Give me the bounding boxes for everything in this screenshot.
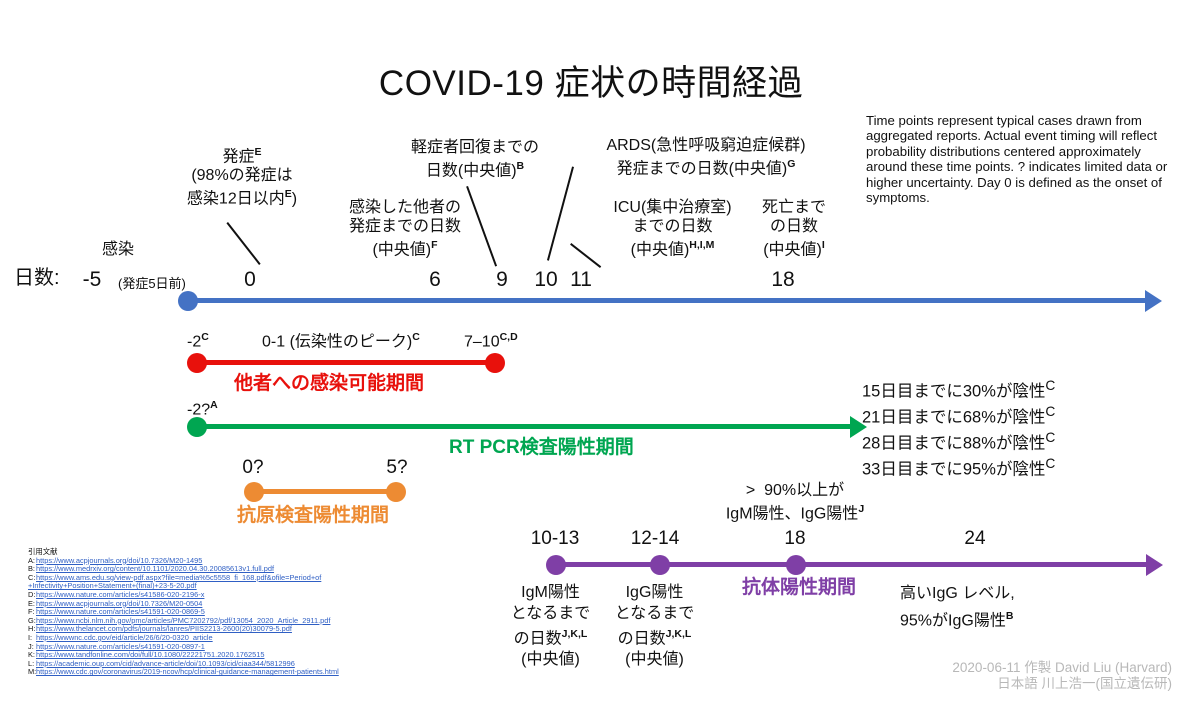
- pcr-negative-1-sup: C: [1045, 404, 1055, 419]
- credit-line-1: 2020-06-11 作製 David Liu (Harvard): [760, 660, 1172, 676]
- antibody-igg-4: (中央値): [602, 649, 707, 670]
- axis-line: [186, 298, 1146, 303]
- list-item: 33日目までに95%が陰性C: [862, 454, 1055, 480]
- axis-start-dot: [178, 291, 198, 311]
- annotation-icu-2: までの日数: [600, 217, 745, 236]
- annotation-icu-1: ICU(集中治療室): [600, 198, 745, 217]
- pcr-negative-list: 15日目までに30%が陰性C 21日目までに68%が陰性C 28日目までに88%…: [862, 376, 1055, 480]
- pcr-period-caption: RT PCR検査陽性期間: [449, 432, 634, 459]
- pcr-negative-1: 21日目までに68%が陰性: [862, 409, 1045, 427]
- axis-tick-minus5: -5: [62, 268, 122, 292]
- infectious-peak-sup: C: [412, 331, 420, 343]
- antibody-over90-prefix: >: [746, 482, 755, 499]
- antibody-over90-2: IgM陽性、IgG陽性: [726, 505, 858, 522]
- annotation-ards-sup: G: [787, 158, 795, 170]
- annotation-death-3: (中央値): [763, 241, 822, 258]
- antibody-tail-1: 高いIgG レベル,: [900, 583, 1100, 605]
- antibody-igm-description: IgM陽性 となるまで の日数J,K,L (中央値): [498, 582, 603, 670]
- pcr-negative-3-sup: C: [1045, 456, 1055, 471]
- explanatory-note: Time points represent typical cases draw…: [866, 113, 1170, 205]
- infectious-bar-line: [196, 360, 496, 365]
- infectious-peak-label: 0-1 (伝染性のピーク)C: [262, 328, 420, 351]
- axis-tick-9: 9: [477, 268, 527, 292]
- antibody-positive-bar: [555, 562, 1147, 567]
- antibody-over90-sup: J: [858, 503, 864, 515]
- infectious-start-value: -2: [187, 333, 201, 350]
- connector-ards: [547, 167, 574, 261]
- axis-tick-0: 0: [225, 268, 275, 292]
- antibody-tail-sup: B: [1006, 610, 1014, 622]
- antibody-arrowhead-icon: [1146, 554, 1163, 576]
- annotation-infection: 感染: [78, 240, 158, 259]
- infectious-start-dot: [187, 353, 207, 373]
- infectious-period-caption: 他者への感染可能期間: [234, 368, 424, 395]
- antibody-igm-3: の日数: [514, 630, 562, 647]
- annotation-onset-detail-close: ): [292, 191, 297, 208]
- antigen-start-dot: [244, 482, 264, 502]
- annotation-ards: ARDS(急性呼吸窮迫症候群) 発症までの日数(中央値)G: [575, 136, 837, 178]
- annotation-death-2: の日数: [744, 217, 844, 236]
- antibody-igg-2: となるまで: [602, 603, 707, 624]
- list-item: 15日目までに30%が陰性C: [862, 376, 1055, 402]
- annotation-secondary-1: 感染した他者の: [325, 198, 485, 217]
- annotation-death-1: 死亡まで: [744, 198, 844, 217]
- antibody-period-caption: 抗体陽性期間: [742, 572, 856, 599]
- credit-block: 2020-06-11 作製 David Liu (Harvard) 日本語 川上…: [760, 660, 1172, 692]
- annotation-onset-detail-sup: E: [285, 188, 292, 200]
- antibody-tail-description: 高いIgG レベル, 95%がIgG陽性B: [900, 583, 1100, 632]
- pcr-positive-bar: [196, 424, 851, 429]
- citations-block: 引用文献 A:https://www.acpjournals.org/doi/1…: [28, 548, 488, 677]
- annotation-icu: ICU(集中治療室) までの日数 (中央値)H,I,M: [600, 198, 745, 259]
- antibody-point-24-day: 24: [925, 528, 1025, 550]
- annotation-secondary-sup: F: [431, 239, 437, 251]
- annotation-icu-3: (中央値): [631, 241, 690, 258]
- annotation-onset-detail-1: (98%の発症は: [152, 166, 332, 185]
- antigen-end-label: 5?: [372, 457, 422, 479]
- annotation-onset-text: 発症: [222, 148, 254, 165]
- axis-arrowhead-icon: [1145, 290, 1162, 312]
- connector-icu: [570, 243, 601, 268]
- annotation-mild-recovery: 軽症者回復までの 日数(中央値)B: [390, 138, 560, 180]
- page-title: COVID-19 症状の時間経過: [0, 55, 1182, 106]
- antibody-igg-1: IgG陽性: [602, 582, 707, 603]
- pcr-negative-3: 33日目までに95%が陰性: [862, 461, 1045, 479]
- infectious-end-label: 7–10C,D: [464, 328, 518, 351]
- citation-key: M:: [28, 668, 36, 677]
- list-item: 28日目までに88%が陰性C: [862, 428, 1055, 454]
- pcr-negative-0: 15日目までに30%が陰性: [862, 383, 1045, 401]
- annotation-mild-1: 軽症者回復までの: [390, 138, 560, 157]
- infectious-end-sup: C,D: [500, 331, 518, 343]
- pcr-start-dot: [187, 417, 207, 437]
- antibody-point-igm-day: 10-13: [505, 528, 605, 550]
- pcr-start-sup: A: [210, 399, 218, 411]
- annotation-onset: 発症E (98%の発症は 感染12日以内E): [152, 143, 332, 209]
- antibody-bar-line: [555, 562, 1147, 567]
- pcr-negative-2: 28日目までに88%が陰性: [862, 435, 1045, 453]
- infectious-end-dot: [485, 353, 505, 373]
- annotation-mild-2: 日数(中央値): [426, 162, 517, 179]
- annotation-onset-detail-2: 感染12日以内: [187, 191, 285, 208]
- antigen-period-caption: 抗原検査陽性期間: [237, 500, 389, 527]
- pcr-start-label: -2?A: [187, 396, 218, 419]
- antibody-tail-2: 95%がIgG陽性: [900, 612, 1006, 629]
- main-timeline-axis: [186, 298, 1146, 303]
- pcr-negative-2-sup: C: [1045, 430, 1055, 445]
- infographic-canvas: COVID-19 症状の時間経過 Time points represent t…: [0, 0, 1182, 709]
- antibody-point-igg-day: 12-14: [605, 528, 705, 550]
- antigen-positive-bar: [253, 489, 397, 494]
- pcr-start-value: -2?: [187, 401, 210, 418]
- annotation-onset-sup: E: [255, 146, 262, 158]
- pcr-negative-0-sup: C: [1045, 378, 1055, 393]
- citation-item[interactable]: M:https://www.cdc.gov/coronavirus/2019-n…: [28, 668, 488, 677]
- connector-onset: [227, 222, 261, 265]
- antigen-end-dot: [386, 482, 406, 502]
- annotation-mild-sup: B: [517, 160, 525, 172]
- antibody-point-18-day: 18: [745, 528, 845, 550]
- antibody-igg-sup: J,K,L: [666, 628, 692, 640]
- annotation-icu-sup: H,I,M: [689, 239, 714, 251]
- axis-row-label: 日数:: [14, 269, 60, 288]
- axis-tick-11: 11: [556, 268, 606, 292]
- annotation-ards-2: 発症までの日数(中央値): [617, 160, 788, 177]
- antigen-start-label: 0?: [228, 457, 278, 479]
- antibody-dot-igm: [546, 555, 566, 575]
- antibody-dot-igg: [650, 555, 670, 575]
- antibody-over90-note: > 90%以上が IgM陽性、IgG陽性J: [690, 481, 900, 523]
- antibody-igm-2: となるまで: [498, 603, 603, 624]
- list-item: 21日目までに68%が陰性C: [862, 402, 1055, 428]
- annotation-secondary-2: 発症までの日数: [325, 217, 485, 236]
- antibody-igg-3: の日数: [618, 630, 666, 647]
- axis-tick-18: 18: [758, 268, 808, 292]
- antibody-igg-description: IgG陽性 となるまで の日数J,K,L (中央値): [602, 582, 707, 670]
- annotation-death: 死亡まで の日数 (中央値)I: [744, 198, 844, 259]
- infectious-peak-value: 0-1 (伝染性のピーク): [262, 333, 412, 350]
- infectious-start-sup: C: [201, 331, 209, 343]
- credit-line-2: 日本語 川上浩一(国立遺伝研): [760, 676, 1172, 692]
- antibody-over90-1: 90%以上が: [764, 482, 844, 499]
- antibody-igm-4: (中央値): [498, 649, 603, 670]
- pcr-bar-line: [196, 424, 851, 429]
- axis-tick-6: 6: [410, 268, 460, 292]
- citation-url[interactable]: https://www.cdc.gov/coronavirus/2019-nco…: [36, 667, 339, 676]
- infectious-period-bar: [196, 360, 496, 365]
- antibody-igm-sup: J,K,L: [562, 628, 588, 640]
- antibody-igm-1: IgM陽性: [498, 582, 603, 603]
- annotation-secondary-onset: 感染した他者の 発症までの日数 (中央値)F: [325, 198, 485, 259]
- annotation-death-sup: I: [822, 239, 825, 251]
- infectious-start-label: -2C: [187, 328, 209, 351]
- infectious-end-value: 7–10: [464, 333, 500, 350]
- annotation-ards-1: ARDS(急性呼吸窮迫症候群): [575, 136, 837, 155]
- annotation-secondary-3: (中央値): [372, 241, 431, 258]
- antigen-bar-line: [253, 489, 397, 494]
